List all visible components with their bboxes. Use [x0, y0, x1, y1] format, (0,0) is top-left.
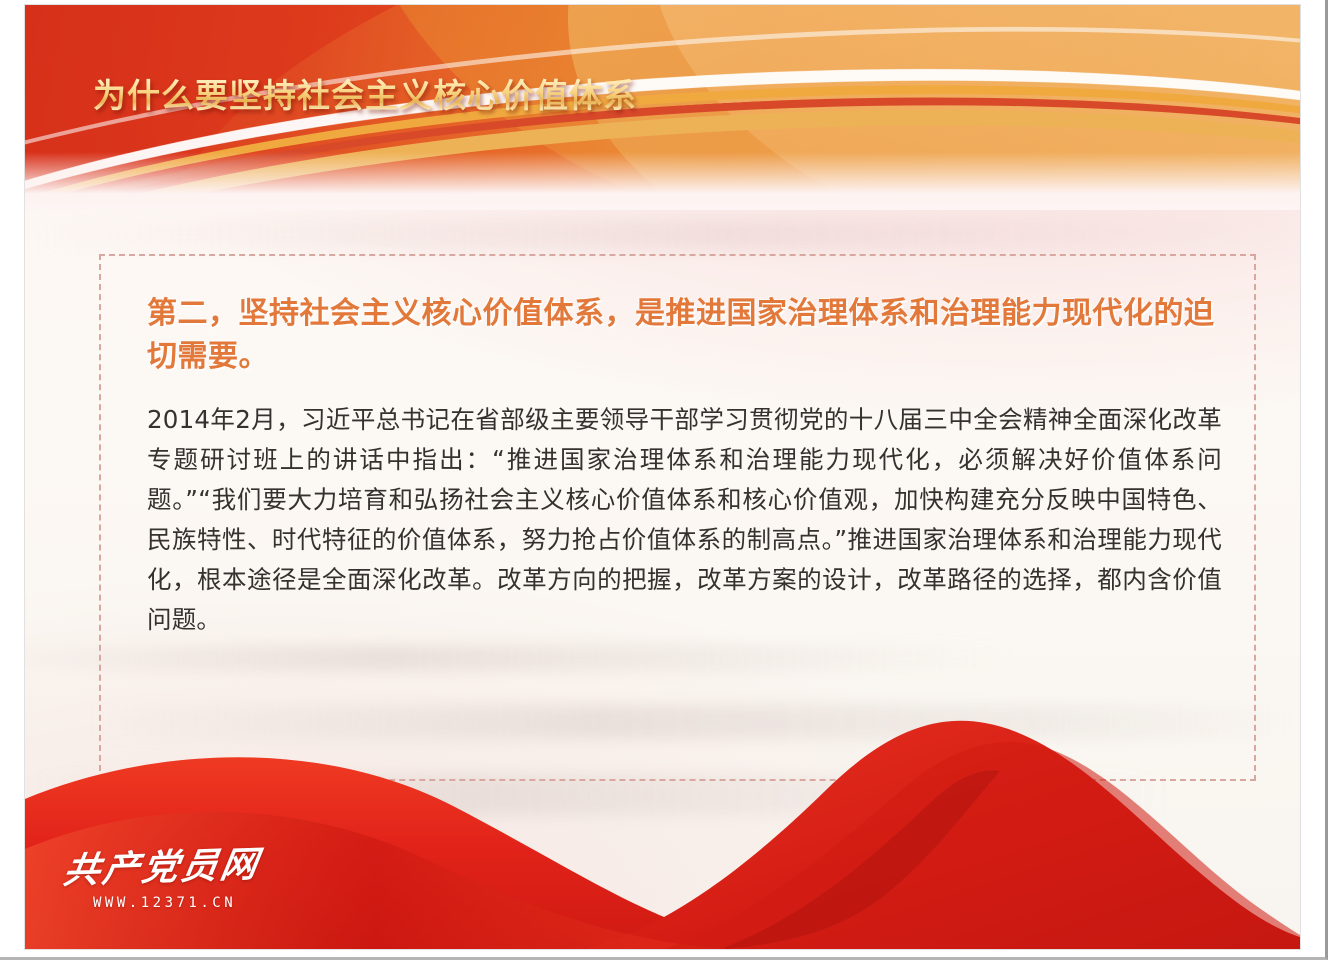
site-logo: 共产党员网 WWW.12371.CN	[65, 838, 295, 911]
slide-viewer: 为什么要坚持社会主义核心价值体系 第二，坚持社会主义核心价值体系，是推进国家治理…	[0, 0, 1328, 960]
background-mist-texture	[25, 220, 1300, 250]
logo-text: 共产党员网	[60, 834, 300, 894]
footer-wave-decoration: 共产党员网 WWW.12371.CN	[25, 679, 1300, 949]
slide-header-banner: 为什么要坚持社会主义核心价值体系	[25, 5, 1300, 210]
slide-title: 为什么要坚持社会主义核心价值体系	[93, 69, 637, 117]
logo-url: WWW.12371.CN	[93, 895, 295, 911]
presentation-slide: 为什么要坚持社会主义核心价值体系 第二，坚持社会主义核心价值体系，是推进国家治理…	[25, 5, 1300, 949]
body-paragraph: 2014年2月，习近平总书记在省部级主要领导干部学习贯彻党的十八届三中全会精神全…	[147, 400, 1222, 640]
header-bottom-fade	[25, 152, 1300, 210]
lead-heading: 第二，坚持社会主义核心价值体系，是推进国家治理体系和治理能力现代化的迫切需要。	[147, 292, 1222, 378]
